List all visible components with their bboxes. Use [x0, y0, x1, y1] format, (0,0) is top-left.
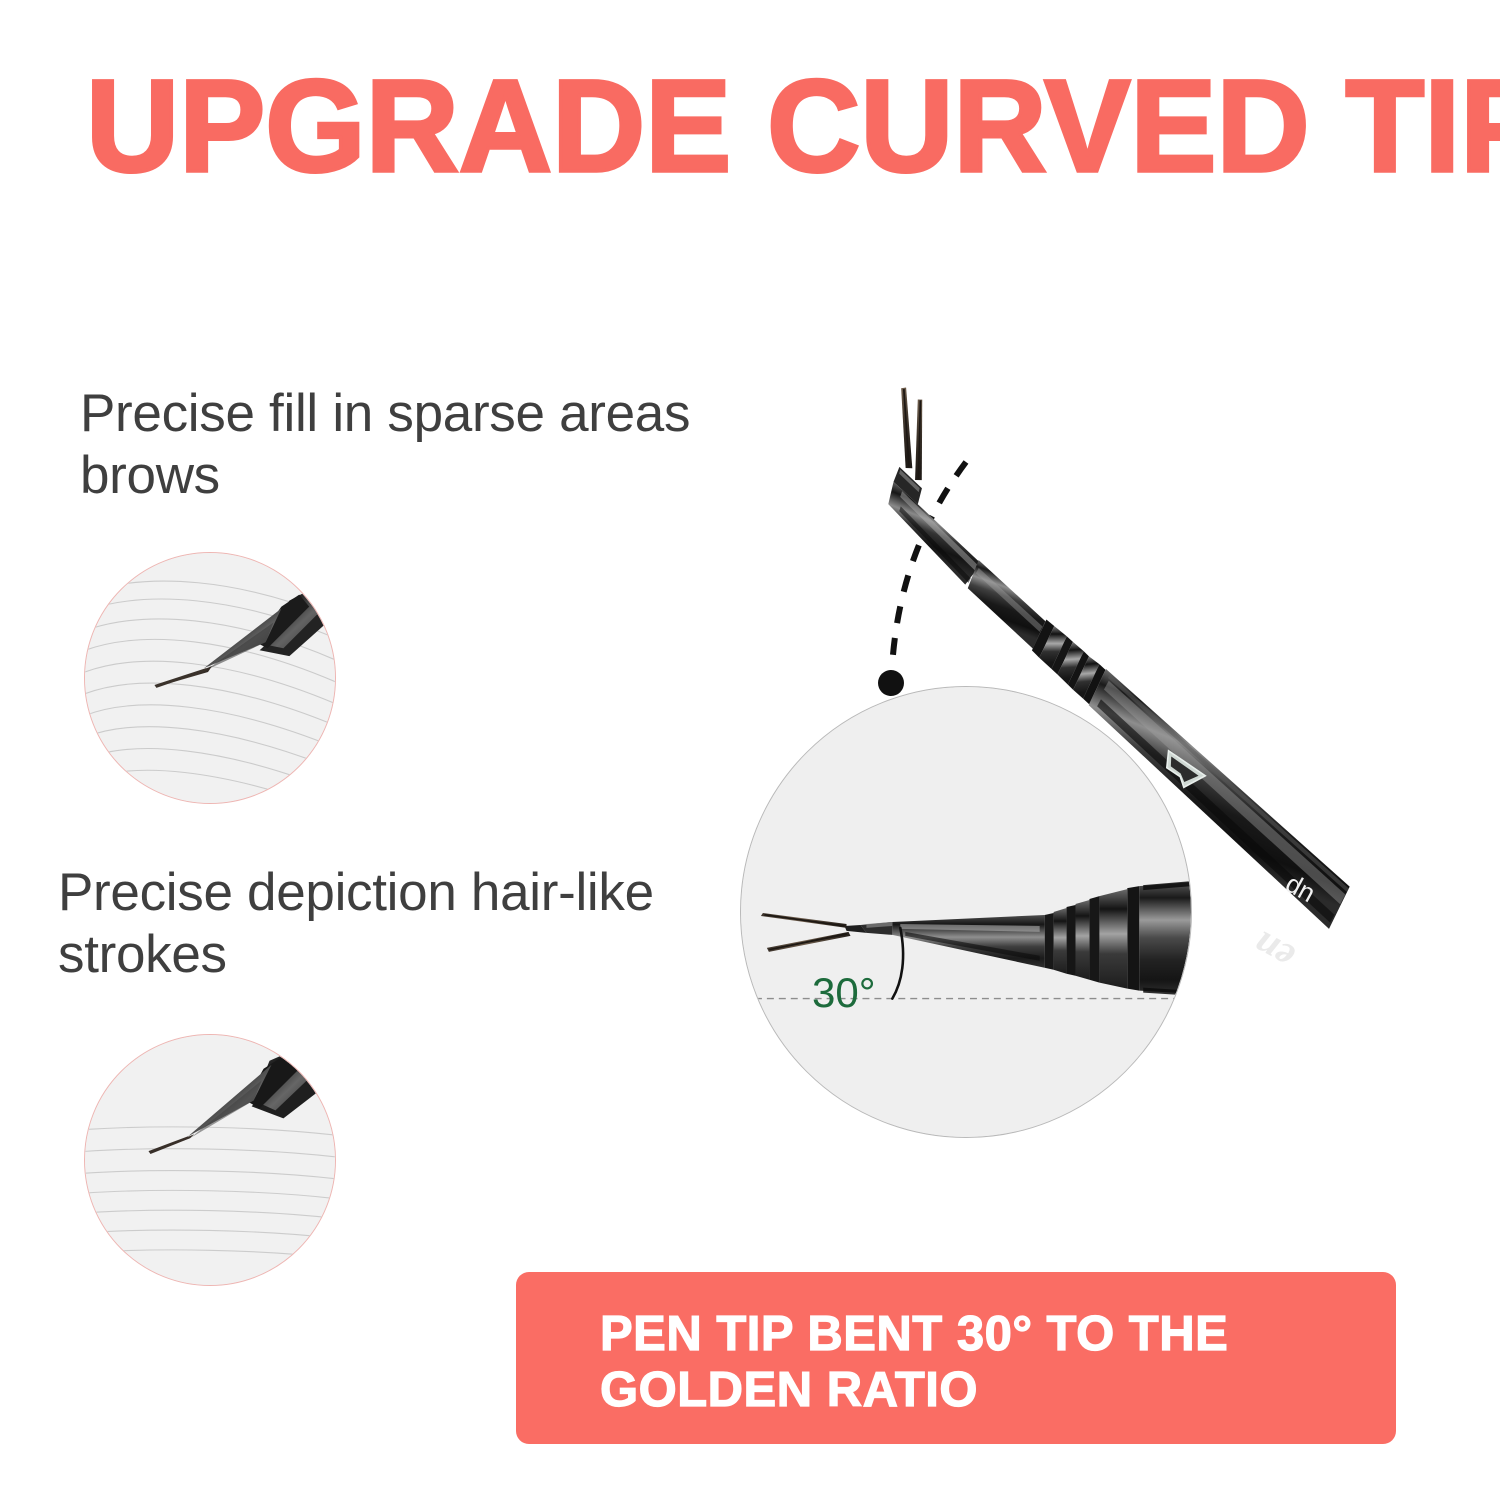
infographic-canvas: UPGRADE CURVED TIP DESIGN Precise fill i…: [0, 0, 1500, 1500]
banner-line-2: GOLDEN RATIO: [600, 1362, 1360, 1418]
page-title: UPGRADE CURVED TIP DESIGN: [86, 62, 1406, 192]
banner-line-1: PEN TIP BENT 30° TO THE: [600, 1306, 1360, 1362]
pen-tip-filling-sparse-brow-hairs-icon: [84, 552, 336, 804]
angle-value-label: 30°: [812, 972, 876, 1014]
banner-text-block: PEN TIP BENT 30° TO THE GOLDEN RATIO: [600, 1306, 1360, 1418]
bottom-callout-banner: PEN TIP BENT 30° TO THE GOLDEN RATIO: [516, 1272, 1396, 1444]
svg-text:en: en: [1245, 922, 1302, 981]
feature-label-sparse-areas: Precise fill in sparse areas brows: [80, 383, 720, 507]
pen-tip-drawing-hair-like-strokes-icon: [84, 1034, 336, 1286]
product-photo-eyebrow-pen: up en: [860, 380, 1500, 810]
feature-label-hair-like-strokes: Precise depiction hair-like strokes: [58, 862, 698, 986]
